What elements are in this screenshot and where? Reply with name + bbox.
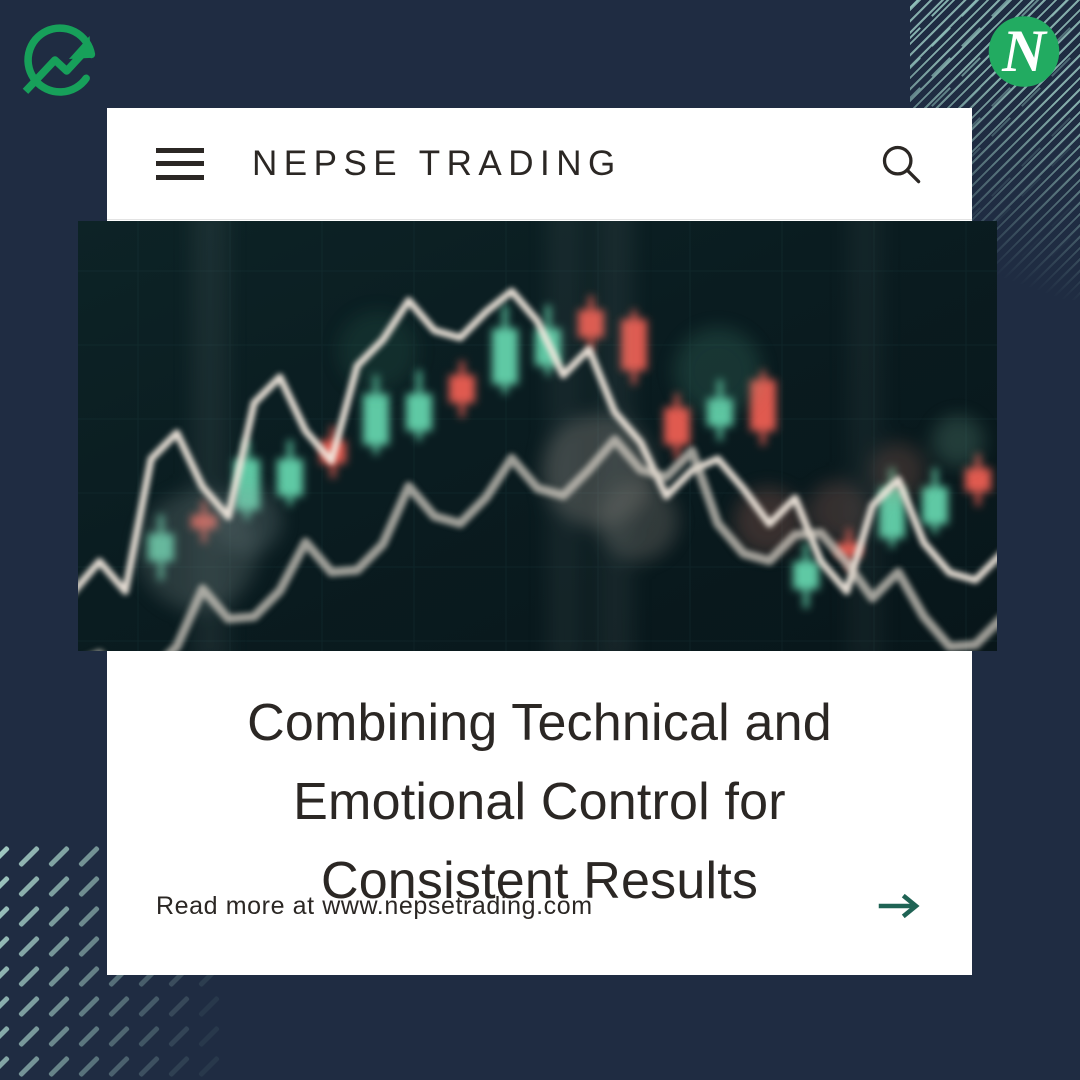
- page-headline: Combining Technical and Emotional Contro…: [151, 684, 928, 921]
- nepse-logo-letter: N: [1001, 18, 1048, 85]
- card-header: NEPSE TRADING: [107, 108, 972, 220]
- hamburger-menu-icon[interactable]: [156, 148, 204, 180]
- hamburger-bar: [156, 175, 204, 180]
- trend-arrow-circle-logo: [18, 18, 102, 102]
- hamburger-bar: [156, 148, 204, 153]
- nepse-n-badge-logo: N: [982, 12, 1066, 96]
- headline-line: Emotional Control for: [151, 763, 928, 842]
- read-more-text: Read more at www.nepsetrading.com: [156, 892, 593, 921]
- stock-chart-photo: [78, 221, 997, 651]
- card-footer: Read more at www.nepsetrading.com: [107, 891, 972, 921]
- arrow-right-icon[interactable]: [878, 891, 924, 921]
- headline-block: Combining Technical and Emotional Contro…: [107, 650, 972, 921]
- search-icon[interactable]: [878, 141, 924, 187]
- page-title: NEPSE TRADING: [252, 144, 622, 184]
- headline-line: Combining Technical and: [151, 684, 928, 763]
- hamburger-bar: [156, 161, 204, 166]
